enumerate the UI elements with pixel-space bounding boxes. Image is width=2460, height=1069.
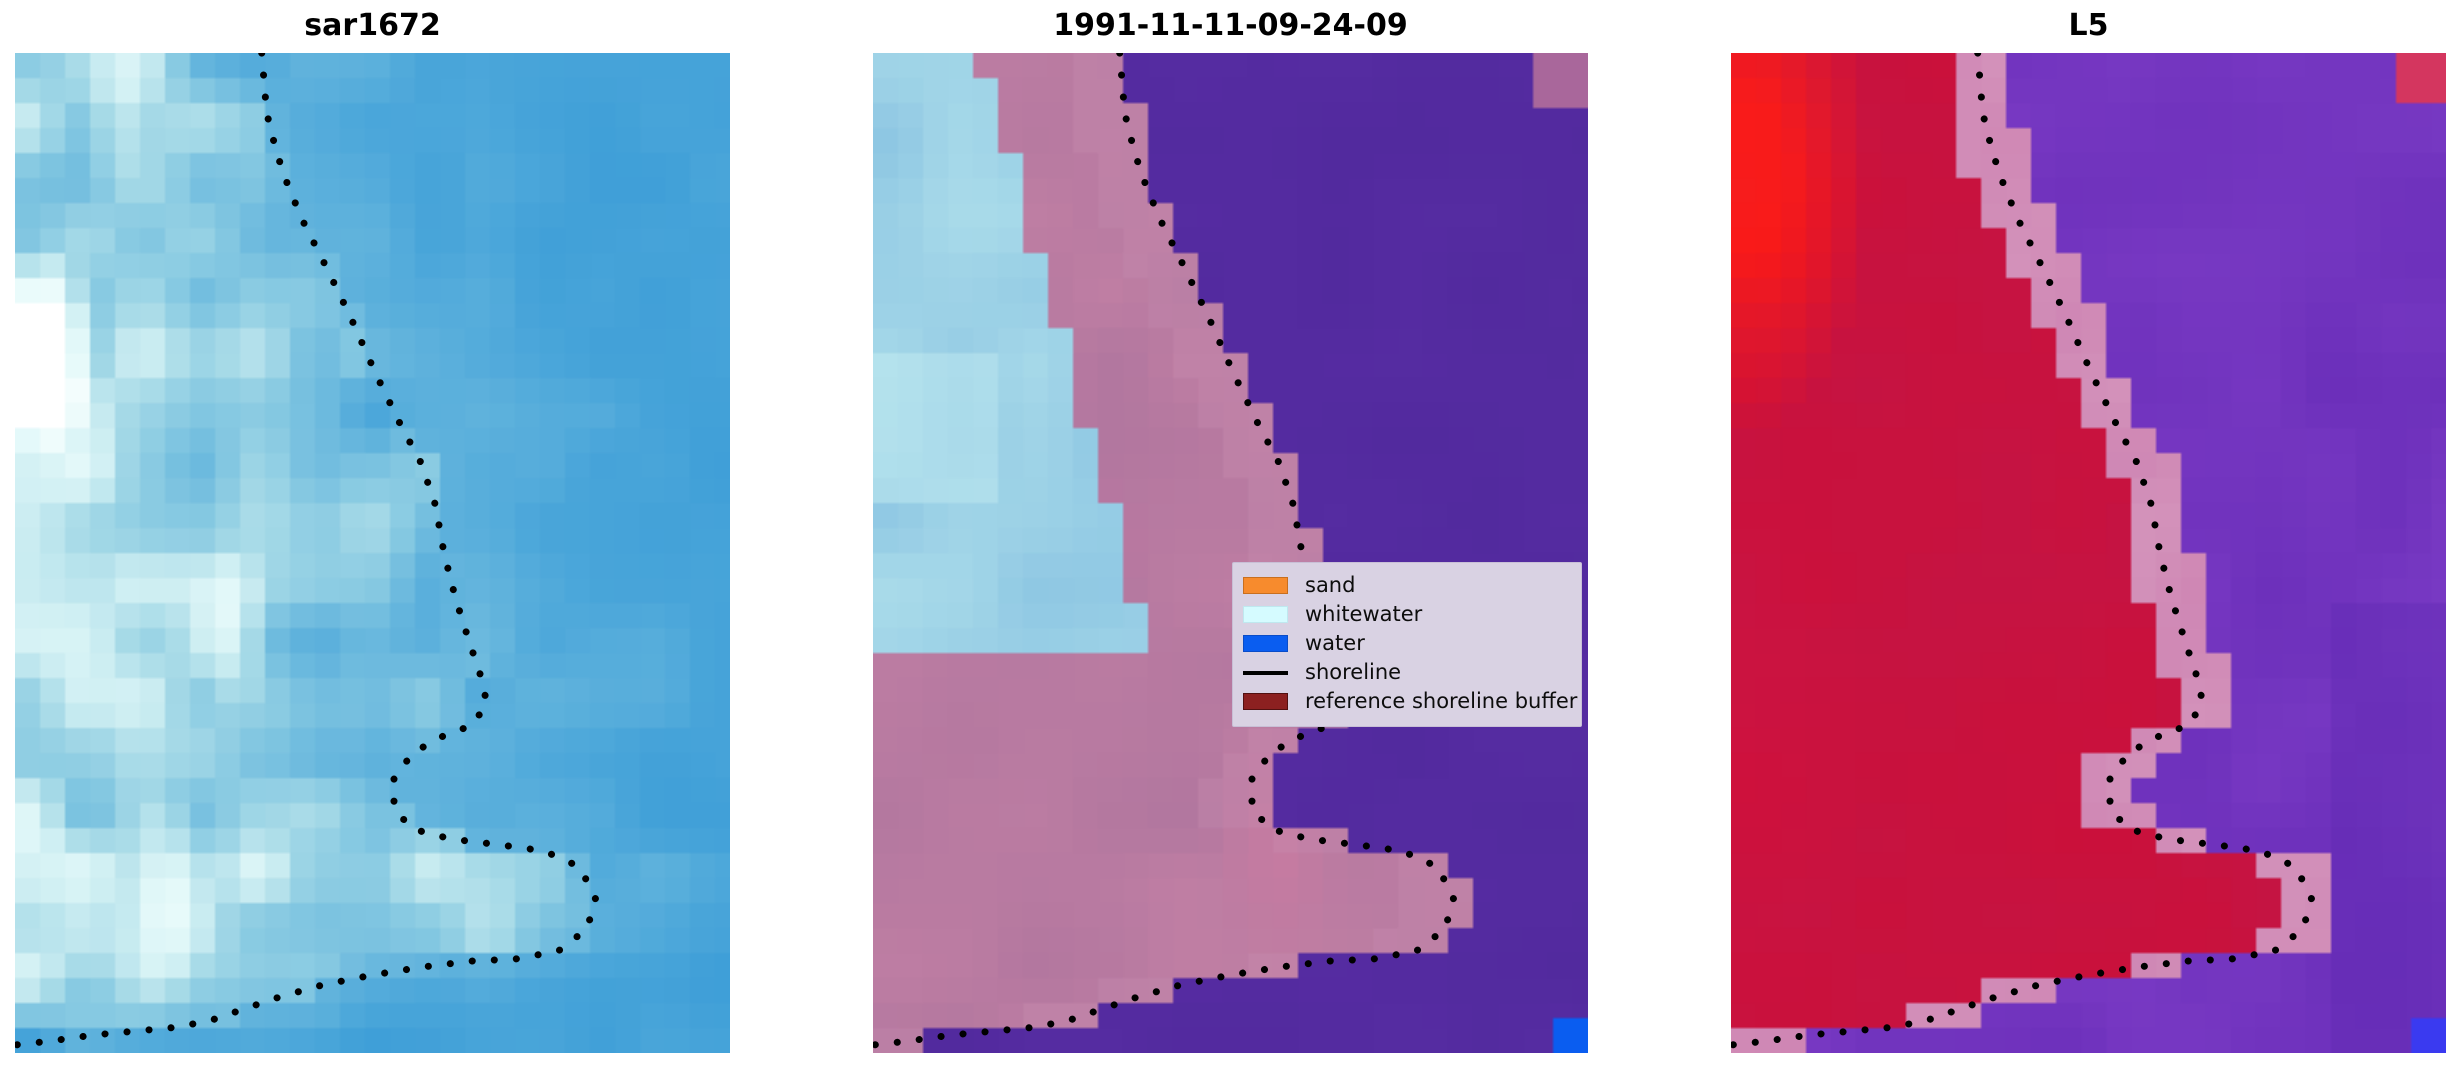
legend-item-sand: sand — [1243, 571, 1571, 600]
panel-title-sar: sar1672 — [15, 5, 730, 47]
legend-swatch-sand — [1243, 577, 1288, 594]
legend-swatch-water — [1243, 635, 1288, 652]
legend-label-sand: sand — [1305, 575, 1355, 596]
legend-item-reference-shoreline-buffer: reference shoreline buffer — [1243, 687, 1571, 716]
sar-raster — [15, 53, 730, 1053]
legend-label-shoreline: shoreline — [1305, 662, 1401, 683]
legend-swatch-reference-shoreline-buffer — [1243, 693, 1288, 710]
panel-title-date: 1991-11-11-09-24-09 — [873, 5, 1588, 47]
classified-raster — [873, 53, 1588, 1053]
map-legend: sand whitewater water shoreline referenc… — [1232, 562, 1582, 727]
legend-item-whitewater: whitewater — [1243, 600, 1571, 629]
panel-l5-image — [1731, 53, 2446, 1053]
panel-sar-image — [15, 53, 730, 1053]
legend-label-reference-shoreline-buffer: reference shoreline buffer — [1305, 691, 1577, 712]
panel-classified-image — [873, 53, 1588, 1053]
legend-label-whitewater: whitewater — [1305, 604, 1422, 625]
panel-title-l5: L5 — [1731, 5, 2446, 47]
figure-canvas: sar1672 1991-11-11-09-24-09 L5 sand whit… — [0, 0, 2460, 1069]
legend-label-water: water — [1305, 633, 1365, 654]
legend-item-water: water — [1243, 629, 1571, 658]
l5-raster — [1731, 53, 2446, 1053]
legend-item-shoreline: shoreline — [1243, 658, 1571, 687]
legend-swatch-shoreline — [1243, 671, 1288, 675]
legend-swatch-whitewater — [1243, 606, 1288, 623]
